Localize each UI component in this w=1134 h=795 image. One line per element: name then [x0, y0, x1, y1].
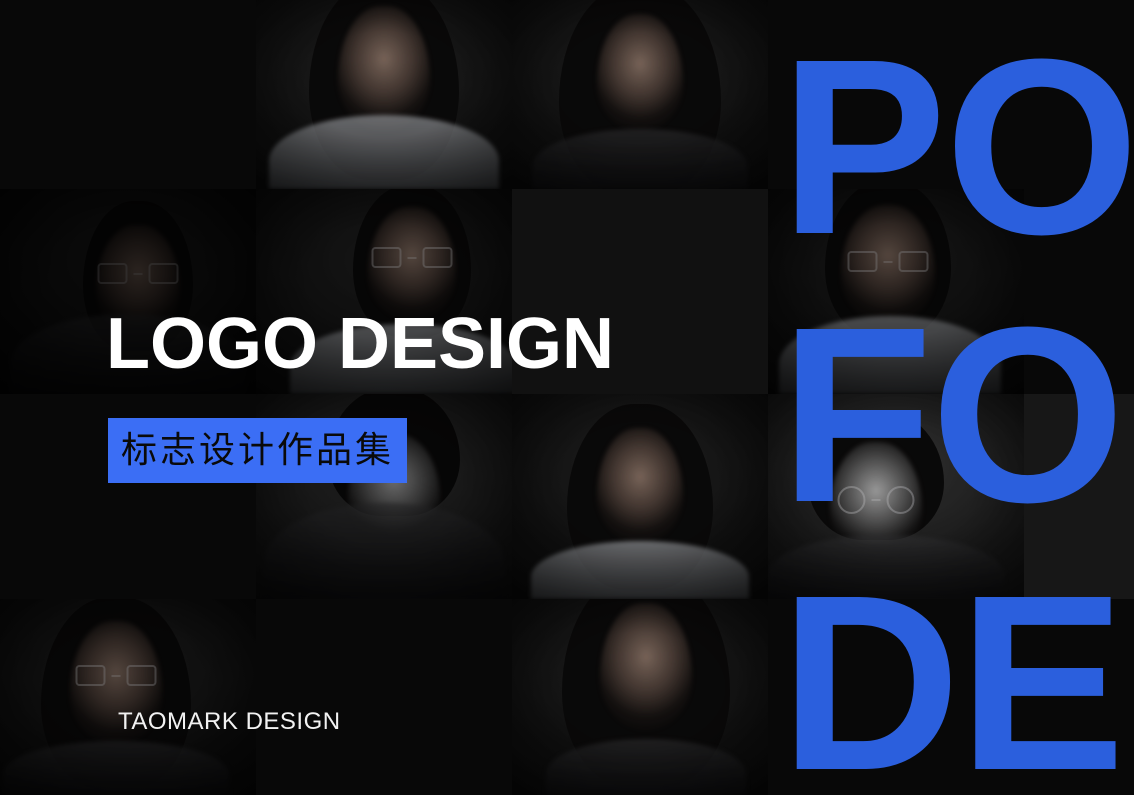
- portrait-dimmer: [768, 394, 1024, 599]
- studio-name: TAOMARK DESIGN: [118, 708, 341, 736]
- mosaic-cell-r3c4: [768, 394, 1024, 599]
- subtitle-badge-label: 标志设计作品集: [121, 433, 394, 469]
- mosaic-cell-r1c4: [768, 0, 1024, 189]
- mosaic-cell-r3c5: [1024, 394, 1134, 599]
- photo-mosaic-grid: [0, 0, 1134, 795]
- mosaic-cell-r2c5: [1024, 189, 1134, 394]
- portrait-woman-white-collar-shirt: [512, 394, 768, 599]
- portrait-person-round-glasses-bw: [768, 394, 1024, 599]
- poster-canvas: PO FO DE LOGO DESIGN 标志设计作品集 TAOMARK DES…: [0, 0, 1134, 795]
- subtitle-badge: 标志设计作品集: [108, 418, 407, 483]
- mosaic-cell-r3c3: [512, 394, 768, 599]
- mosaic-cell-r4c4: [768, 599, 1024, 795]
- portrait-dimmer: [768, 189, 1024, 394]
- portrait-dimmer: [512, 394, 768, 599]
- mosaic-cell-r4c1: [0, 599, 256, 795]
- mosaic-cell-r1c1: [0, 0, 256, 189]
- mosaic-cell-r4c3: [512, 599, 768, 795]
- portrait-woman-smiling-dark-hair: [512, 0, 768, 189]
- portrait-dimmer: [0, 599, 256, 795]
- portrait-dimmer: [512, 599, 768, 795]
- mosaic-cell-r1c3: [512, 0, 768, 189]
- portrait-man-glasses-collar: [768, 189, 1024, 394]
- portrait-dimmer: [512, 0, 768, 189]
- mosaic-cell-r1c5: [1024, 0, 1134, 189]
- mosaic-cell-r4c5: [1024, 599, 1134, 795]
- portrait-woman-glasses-long-hair: [0, 599, 256, 795]
- page-title: LOGO DESIGN: [106, 308, 614, 380]
- portrait-woman-portrait-soft-light: [512, 599, 768, 795]
- portrait-woman-long-hair-white-shirt: [256, 0, 512, 189]
- mosaic-cell-r1c2: [256, 0, 512, 189]
- mosaic-cell-r4c2: [256, 599, 512, 795]
- mosaic-cell-r2c4: [768, 189, 1024, 394]
- portrait-dimmer: [256, 0, 512, 189]
